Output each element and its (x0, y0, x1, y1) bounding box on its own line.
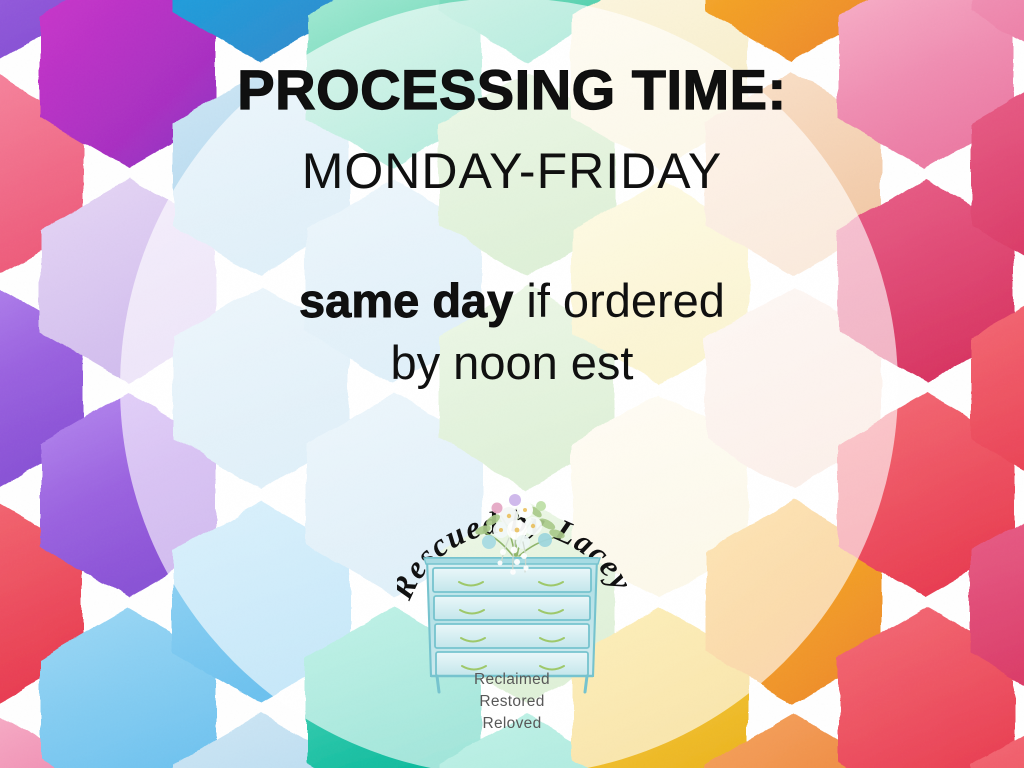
announcement-text-block: PROCESSING TIME: MONDAY-FRIDAY same day … (0, 0, 1024, 394)
logo-tagline: Reclaimed Restored Reloved (397, 669, 627, 735)
body-text: same day if ordered by noon est (0, 196, 1024, 394)
body-line-2: by noon est (0, 332, 1024, 394)
tagline-line-2: Restored (397, 691, 627, 713)
tagline-line-1: Reclaimed (397, 669, 627, 691)
tagline-line-3: Reloved (397, 713, 627, 735)
subtitle: MONDAY-FRIDAY (0, 118, 1024, 196)
body-rest: if ordered (513, 274, 725, 327)
poster-canvas: PROCESSING TIME: MONDAY-FRIDAY same day … (0, 0, 1024, 768)
brand-logo: Rescued by Lacey (397, 486, 627, 754)
page-title: PROCESSING TIME: (0, 0, 1024, 118)
body-strong: same day (299, 274, 513, 327)
